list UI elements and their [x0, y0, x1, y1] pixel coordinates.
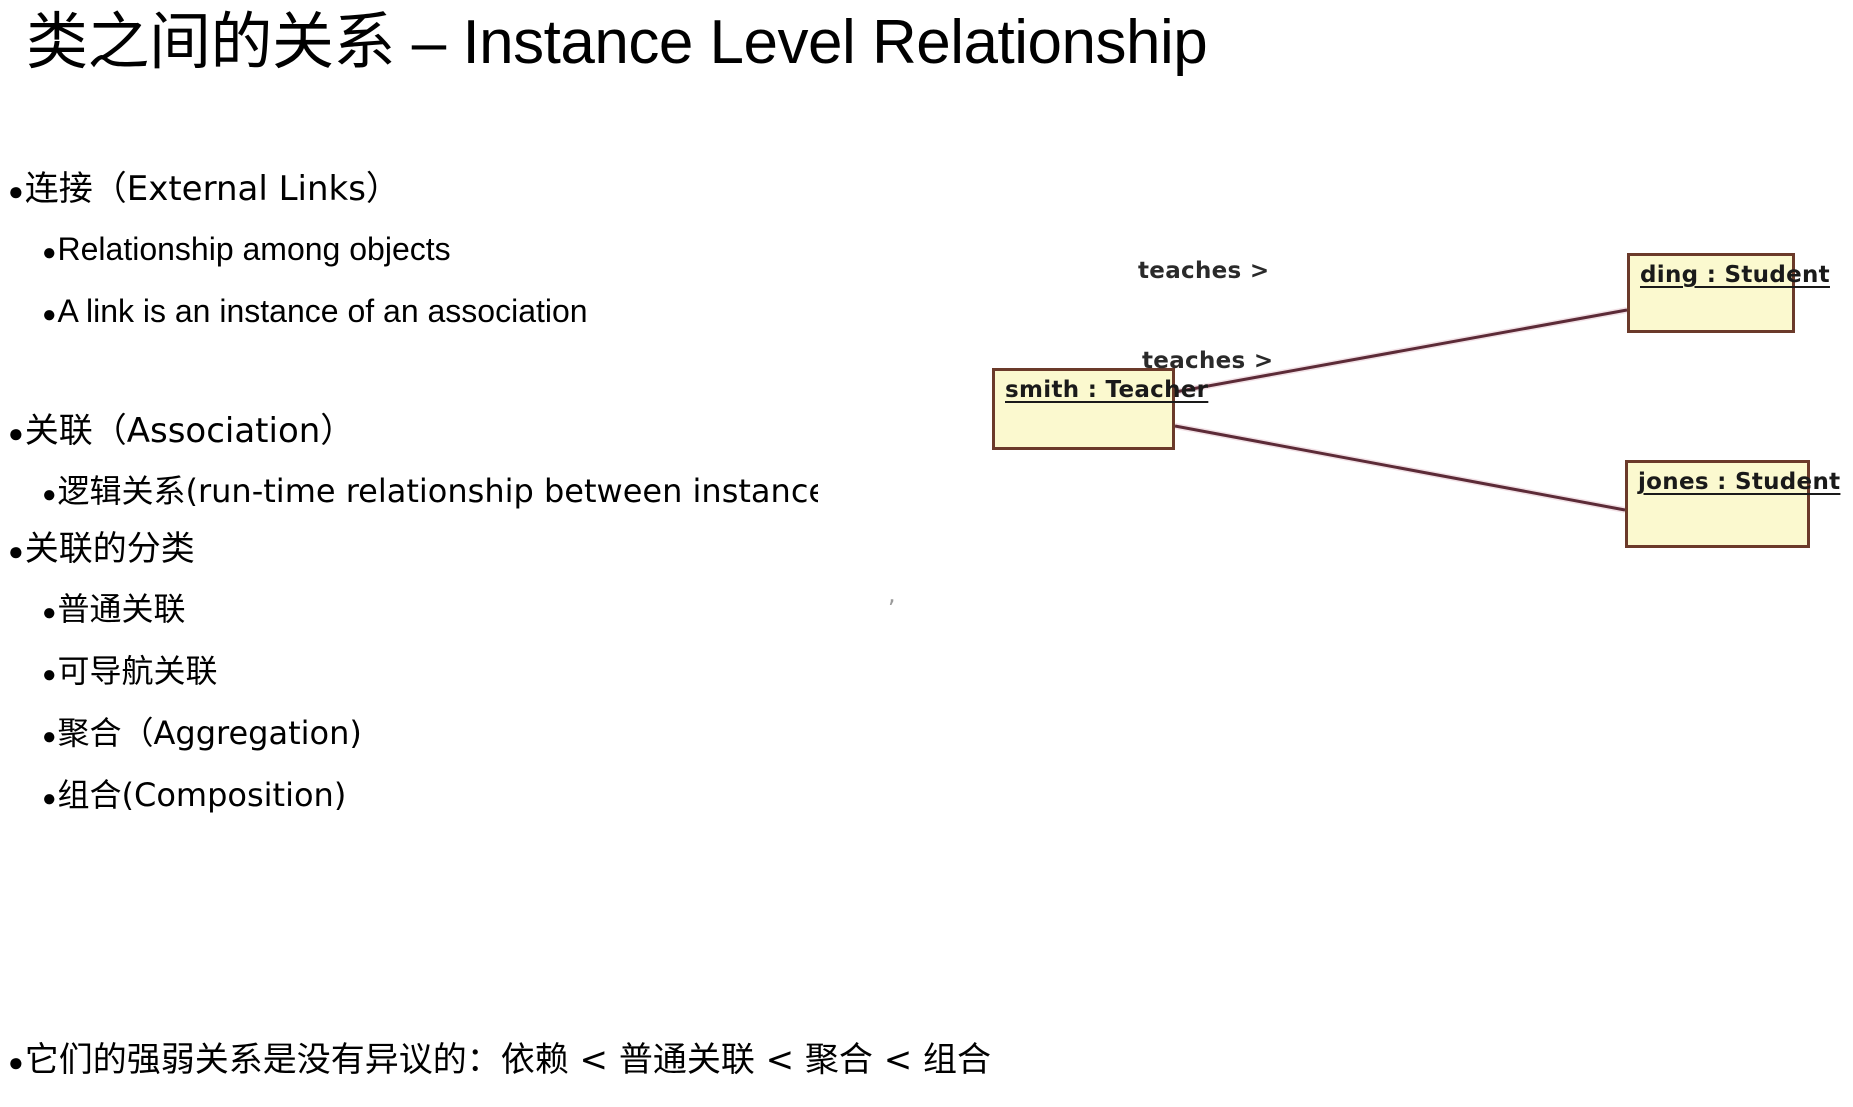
- list-item-label: 逻辑关系(run-time relationship between insta…: [58, 472, 819, 510]
- bullet-dot-icon: ●: [8, 522, 24, 580]
- uml-object-ding[interactable]: ding : Student: [1627, 253, 1795, 333]
- list-item-label: 连接（External Links）: [25, 169, 400, 209]
- list-item-label: 它们的强弱关系是没有异议的：依赖 < 普通关联 < 聚合 < 组合: [25, 1040, 991, 1080]
- uml-object-smith[interactable]: smith : Teacher: [992, 368, 1175, 450]
- uml-object-diagram: smith : Teacher ding : Student jones : S…: [975, 200, 1835, 570]
- list-item-label: Relationship among objects: [58, 231, 451, 267]
- page-title: 类之间的关系 – Instance Level Relationship: [26, 8, 1836, 77]
- list-item-summary: ●它们的强弱关系是没有异议的：依赖 < 普通关联 < 聚合 < 组合: [8, 1035, 991, 1087]
- bullet-dot-icon: ●: [8, 1047, 24, 1077]
- page-title-cjk: 类之间的关系: [26, 5, 395, 78]
- list-item-label: A link is an instance of an association: [58, 293, 588, 329]
- list-item: ●组合(Composition): [8, 766, 908, 828]
- list-item-label: 聚合（Aggregation): [58, 714, 362, 752]
- bullet-dot-icon: ●: [42, 770, 57, 828]
- list-item: ●普通关联: [8, 580, 908, 642]
- bullet-dot-icon: ●: [42, 708, 57, 766]
- uml-object-label: ding : Student: [1630, 256, 1792, 288]
- bullet-dot-icon: ●: [42, 224, 57, 282]
- list-item-label: 普通关联: [58, 590, 186, 628]
- list-item: ●聚合（Aggregation): [8, 704, 908, 766]
- list-item: ●连接（External Links）: [8, 160, 908, 220]
- link-smith-jones: [1175, 426, 1625, 510]
- page-title-latin: – Instance Level Relationship: [395, 8, 1207, 77]
- list-item: ●可导航关联: [8, 642, 908, 704]
- bullet-dot-icon: ●: [42, 646, 57, 704]
- bullet-dot-icon: ●: [8, 404, 24, 462]
- list-item: ●关联（Association）: [8, 402, 908, 462]
- bullet-dot-icon: ●: [8, 162, 24, 220]
- uml-link-label-teaches-ding: teaches >: [1138, 258, 1269, 284]
- bullet-dot-icon: ●: [42, 466, 57, 520]
- list-item: ●逻辑关系(run-time relationship between inst…: [8, 462, 818, 520]
- list-item: ●Relationship among objects: [8, 220, 908, 282]
- slide-canvas: 类之间的关系 – Instance Level Relationship ●连接…: [0, 0, 1853, 1107]
- list-item-label: 组合(Composition): [58, 776, 347, 814]
- list-spacer: [8, 344, 908, 402]
- list-item: ●关联的分类: [8, 520, 908, 580]
- uml-link-label-teaches-jones: teaches >: [1142, 348, 1273, 374]
- list-item-clipped-container: ●逻辑关系(run-time relationship between inst…: [8, 462, 818, 520]
- stray-punctuation-artifact: ,: [888, 580, 896, 608]
- list-item: ●A link is an instance of an association: [8, 282, 908, 344]
- list-item-label: 可导航关联: [58, 652, 218, 690]
- list-item-label: 关联的分类: [25, 529, 195, 569]
- uml-object-jones[interactable]: jones : Student: [1625, 460, 1810, 548]
- uml-object-label: jones : Student: [1628, 463, 1807, 495]
- uml-object-label: smith : Teacher: [995, 371, 1172, 403]
- list-item-label: 关联（Association）: [25, 411, 355, 451]
- bullet-list: ●连接（External Links） ●Relationship among …: [8, 160, 908, 828]
- bullet-dot-icon: ●: [42, 286, 57, 344]
- bullet-dot-icon: ●: [42, 584, 57, 642]
